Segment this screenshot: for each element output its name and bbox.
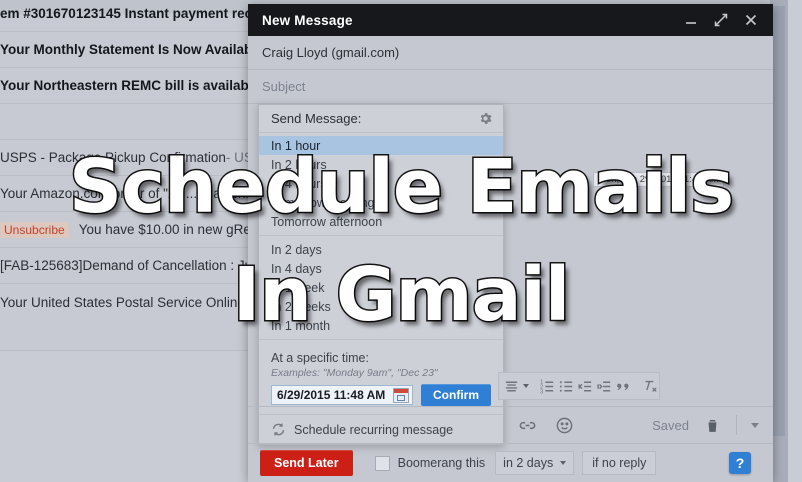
- datetime-tooltip: Mon, Jun 29, 2015 11:48 AM: [593, 172, 724, 187]
- compose-title-label: New Message: [262, 13, 353, 28]
- compose-title-bar: New Message: [248, 4, 773, 36]
- subject-field[interactable]: Subject: [248, 70, 773, 104]
- help-icon[interactable]: ?: [729, 452, 751, 474]
- email-subject: Your Monthly Statement Is Now Available …: [0, 42, 272, 57]
- send-message-label: Send Message:: [271, 111, 361, 126]
- align-icon[interactable]: [503, 378, 520, 395]
- draft-status-tools: Saved: [652, 415, 759, 435]
- trash-icon[interactable]: [703, 416, 722, 435]
- examples-hint: Examples: "Monday 9am", "Dec 23": [259, 365, 503, 384]
- datetime-input[interactable]: 6/29/2015 11:48 AM: [271, 385, 413, 405]
- boomerang-interval-value: in 2 days: [503, 456, 553, 470]
- chevron-down-icon: [560, 461, 566, 465]
- insert-tools: [518, 416, 574, 435]
- from-value: Craig Lloyd (gmail.com): [262, 45, 399, 60]
- svg-text:3: 3: [540, 389, 543, 394]
- chevron-down-icon[interactable]: [523, 384, 529, 388]
- schedule-option-in-4-days[interactable]: In 4 days: [259, 259, 503, 278]
- calendar-icon[interactable]: [393, 388, 409, 403]
- from-field[interactable]: Craig Lloyd (gmail.com): [248, 36, 773, 70]
- schedule-option-in-1-hour[interactable]: In 1 hour: [259, 136, 503, 155]
- emoji-icon[interactable]: [555, 416, 574, 435]
- close-icon[interactable]: [743, 12, 759, 28]
- boomerang-schedule-panel: Send Message: In 1 hour In 2 hours In 4 …: [258, 104, 504, 445]
- compose-action-bar: Saved: [248, 406, 773, 444]
- more-options-icon[interactable]: [751, 423, 759, 428]
- email-subject: [FAB-125683]Demand of Cancellation : Jus…: [0, 258, 271, 273]
- send-later-button[interactable]: Send Later: [260, 450, 353, 476]
- datetime-value: 6/29/2015 11:48 AM: [277, 388, 385, 402]
- page-scrollbar-thumb[interactable]: [772, 6, 785, 436]
- schedule-option-in-1-month[interactable]: In 1 month: [259, 316, 503, 335]
- indent-more-icon[interactable]: [596, 378, 613, 395]
- divider: [259, 235, 503, 236]
- confirm-button[interactable]: Confirm: [421, 384, 491, 406]
- divider: [736, 415, 737, 435]
- bullet-list-icon[interactable]: [558, 378, 575, 395]
- schedule-option-in-2-weeks[interactable]: In 2 weeks: [259, 297, 503, 316]
- subject-placeholder: Subject: [262, 79, 305, 94]
- unsubscribe-badge[interactable]: Unsubcribe: [0, 222, 69, 238]
- divider: [259, 339, 503, 340]
- email-subject: Your United States Postal Service Online…: [0, 295, 258, 310]
- schedule-option-in-1-week[interactable]: In 1 week: [259, 278, 503, 297]
- schedule-option-tomorrow-afternoon[interactable]: Tomorrow afternoon: [259, 212, 503, 231]
- background-right-edge: [788, 0, 802, 482]
- boomerang-condition-label: if no reply: [592, 456, 646, 470]
- boomerang-condition[interactable]: if no reply: [582, 451, 656, 475]
- email-subject: Your Northeastern REMC bill is available: [0, 78, 260, 93]
- boomerang-this-label: Boomerang this: [398, 456, 486, 470]
- link-icon[interactable]: [518, 416, 537, 435]
- screenshot-root: em #301670123145 Instant payment receive…: [0, 0, 802, 482]
- send-message-header: Send Message:: [259, 105, 503, 133]
- clear-format-icon[interactable]: [642, 378, 659, 395]
- compose-window: New Message: [248, 4, 773, 482]
- email-subject: em #301670123145 Instant payment receive…: [0, 6, 287, 21]
- specific-time-label: At a specific time:: [259, 346, 503, 365]
- quote-icon[interactable]: [615, 378, 632, 395]
- schedule-options-list: In 1 hour In 2 hours In 4 hours Tomorrow…: [259, 133, 503, 346]
- schedule-option-tomorrow-morning[interactable]: Tomorrow morning: [259, 193, 503, 212]
- boomerang-interval-select[interactable]: in 2 days: [495, 451, 574, 475]
- boomerang-footer: Send Later Boomerang this in 2 days if n…: [248, 444, 773, 482]
- expand-icon[interactable]: [713, 12, 729, 28]
- schedule-option-in-2-hours[interactable]: In 2 hours: [259, 155, 503, 174]
- window-controls: [683, 12, 763, 28]
- indent-less-icon[interactable]: [577, 378, 594, 395]
- boomerang-this-checkbox[interactable]: [375, 456, 390, 471]
- schedule-option-in-2-days[interactable]: In 2 days: [259, 240, 503, 259]
- format-toolbar: 123: [498, 372, 660, 400]
- numbered-list-icon[interactable]: 123: [539, 378, 556, 395]
- minimize-icon[interactable]: [683, 12, 699, 28]
- email-subject: Your Amazon.com order of "2x ..." has sh…: [0, 186, 279, 201]
- email-subject: USPS - Package Pickup Confirmation: [0, 150, 226, 165]
- schedule-option-in-4-hours[interactable]: In 4 hours: [259, 174, 503, 193]
- saved-status: Saved: [652, 418, 689, 433]
- gear-icon[interactable]: [478, 111, 493, 126]
